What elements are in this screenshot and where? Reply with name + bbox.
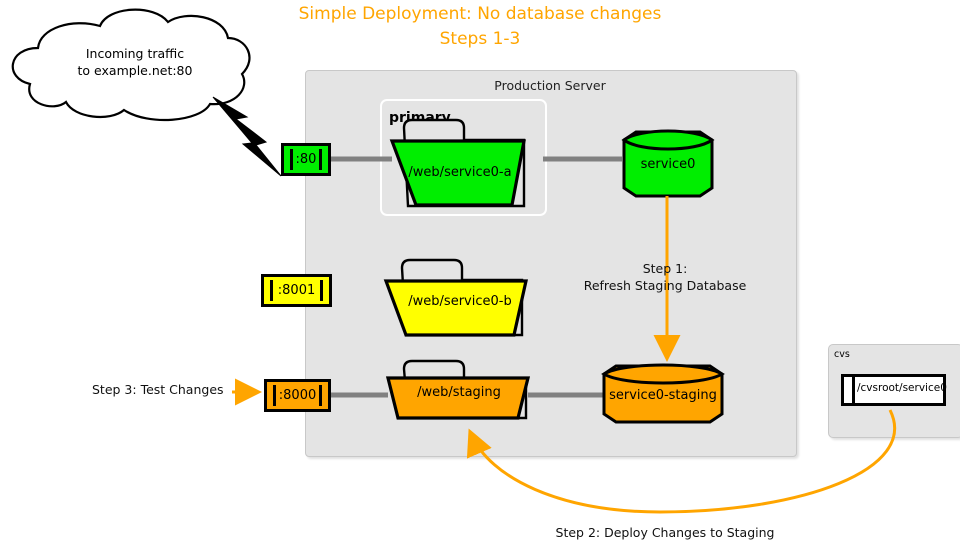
database-label-service0-staging: service0-staging	[604, 388, 722, 403]
port-8001-left-bar-icon	[270, 280, 273, 301]
step1-label: Step 1: Refresh Staging Database	[565, 260, 765, 294]
step2-arrow	[471, 410, 895, 512]
database-label-service0: service0	[624, 157, 712, 172]
folder-web-service0-a[interactable]	[392, 120, 524, 206]
port-80[interactable]: :80	[281, 143, 331, 176]
step3-label: Step 3: Test Changes	[92, 381, 237, 398]
diagram-canvas: Simple Deployment: No database changes S…	[0, 0, 960, 546]
port-8001-right-bar-icon	[320, 280, 323, 301]
diagram-vector-layer	[0, 0, 960, 546]
port-80-left-bar-icon	[290, 149, 293, 170]
port-8000[interactable]: :8000	[264, 379, 331, 412]
port-8000-left-bar-icon	[273, 385, 276, 406]
port-8000-label: :8000	[279, 388, 316, 403]
port-8001-label: :8001	[278, 283, 315, 298]
port-80-right-bar-icon	[319, 149, 322, 170]
port-8000-right-bar-icon	[319, 385, 322, 406]
folder-label-service0-b: /web/service0-b	[398, 294, 522, 309]
lightning-bolt-icon	[213, 97, 281, 176]
folder-label-service0-a: /web/service0-a	[402, 165, 518, 180]
folder-label-staging: /web/staging	[400, 385, 518, 400]
step2-label: Step 2: Deploy Changes to Staging	[520, 524, 810, 541]
port-8001[interactable]: :8001	[261, 274, 332, 307]
cloud-label: Incoming traffic to example.net:80	[50, 45, 220, 79]
port-80-label: :80	[296, 152, 317, 167]
